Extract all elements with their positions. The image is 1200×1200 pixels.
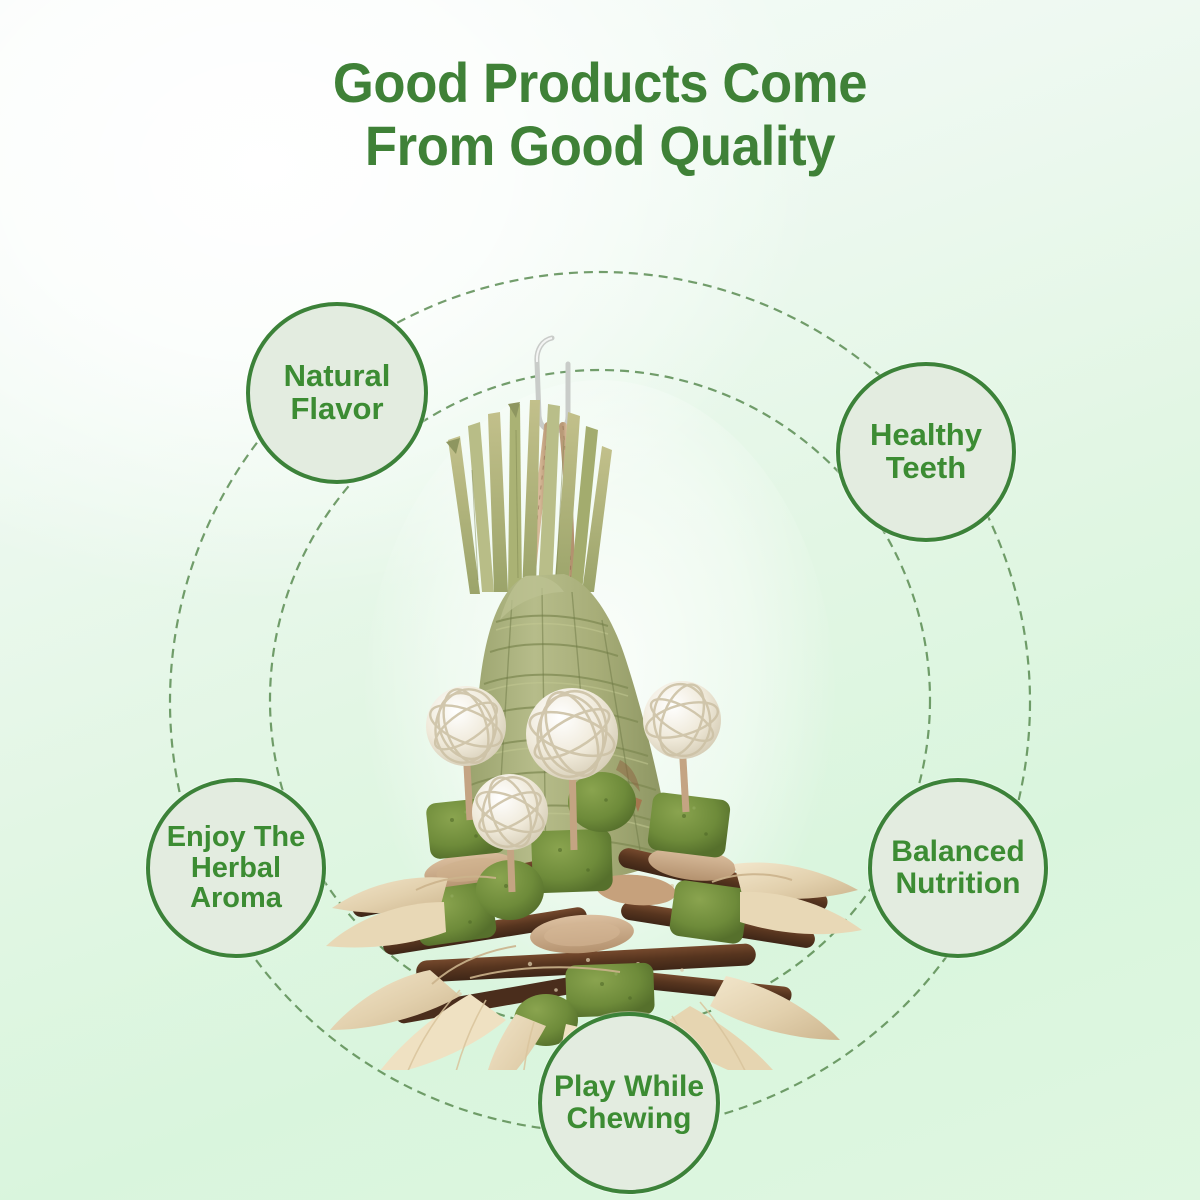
title-line-1: Good Products Come xyxy=(36,52,1164,115)
title-line-2: From Good Quality xyxy=(36,115,1164,178)
badge-natural-flavor[interactable]: Natural Flavor xyxy=(246,302,428,484)
badge-label: Enjoy The Herbal Aroma xyxy=(167,822,306,914)
badge-label: Play While Chewing xyxy=(554,1071,704,1135)
badge-balanced-nutrition[interactable]: Balanced Nutrition xyxy=(868,778,1048,958)
straw-fringe-top xyxy=(446,400,612,594)
badge-label: Natural Flavor xyxy=(284,360,391,426)
badge-play-while-chewing[interactable]: Play While Chewing xyxy=(538,1012,720,1194)
badge-enjoy-herbal-aroma[interactable]: Enjoy The Herbal Aroma xyxy=(146,778,326,958)
page-title: Good Products Come From Good Quality xyxy=(0,52,1200,177)
badge-label: Balanced Nutrition xyxy=(872,836,1044,900)
badge-label: Healthy Teeth xyxy=(870,419,982,485)
badge-healthy-teeth[interactable]: Healthy Teeth xyxy=(836,362,1016,542)
